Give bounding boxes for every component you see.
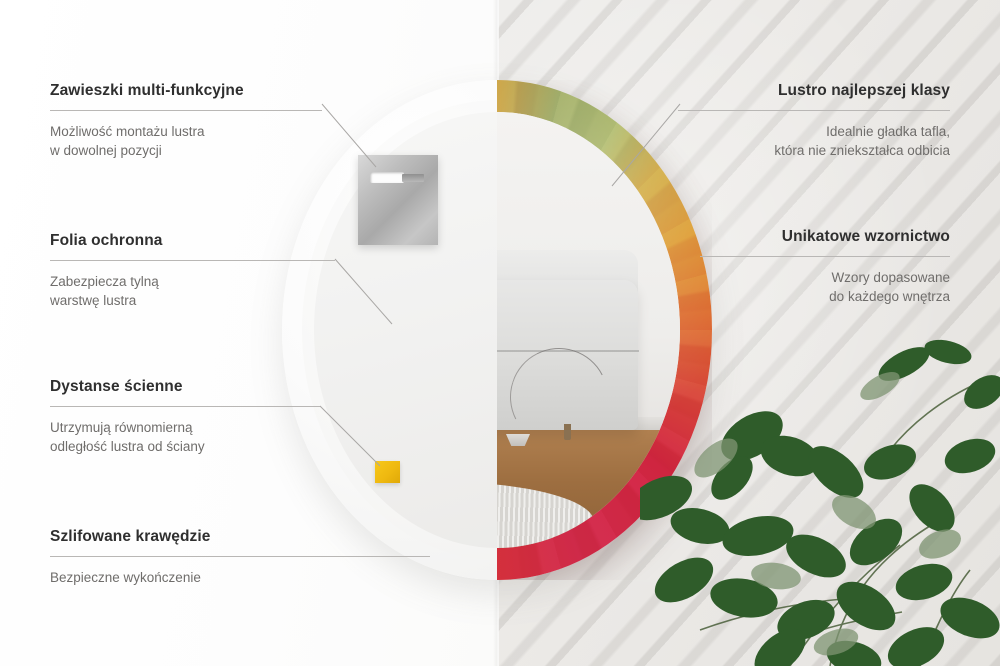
callout-body-line: odległość lustra od ściany (50, 439, 205, 454)
callout-dystanse: Dystanse ścienne Utrzymują równomierną o… (50, 378, 320, 457)
callout-title: Lustro najlepszej klasy (678, 82, 950, 101)
callout-body-line: Idealnie gładka tafla, (826, 124, 950, 139)
callout-body: Idealnie gładka tafla, która nie znieksz… (678, 122, 950, 161)
callout-title: Dystanse ścienne (50, 378, 320, 397)
wall-spacer (375, 461, 400, 483)
infographic-canvas: Zawieszki multi-funkcyjne Możliwość mont… (0, 0, 1000, 666)
callout-body-line: warstwę lustra (50, 293, 136, 308)
callout-rule (700, 256, 950, 257)
callout-wzornictwo: Unikatowe wzornictwo Wzory dopasowane do… (700, 228, 950, 307)
callout-body-line: do każdego wnętrza (829, 289, 950, 304)
callout-body: Możliwość montażu lustra w dowolnej pozy… (50, 122, 322, 161)
callout-title: Unikatowe wzornictwo (700, 228, 950, 247)
callout-body: Wzory dopasowane do każdego wnętrza (700, 268, 950, 307)
hanger-keyhole-slot (370, 172, 404, 183)
callout-body-line: w dowolnej pozycji (50, 143, 162, 158)
callout-title: Zawieszki multi-funkcyjne (50, 82, 322, 101)
callout-zawieszki: Zawieszki multi-funkcyjne Możliwość mont… (50, 82, 322, 161)
callout-body-line: Możliwość montażu lustra (50, 124, 205, 139)
callout-body-line: która nie zniekształca odbicia (774, 143, 950, 158)
callout-folia: Folia ochronna Zabezpiecza tylną warstwę… (50, 232, 335, 311)
callout-rule (50, 110, 322, 111)
callout-rule (678, 110, 950, 111)
round-mirror (282, 80, 712, 580)
mirror-reflection (497, 112, 680, 548)
callout-body: Bezpieczne wykończenie (50, 568, 430, 588)
callout-body-line: Utrzymują równomierną (50, 420, 193, 435)
callout-rule (50, 406, 320, 407)
callout-body-line: Wzory dopasowane (831, 270, 950, 285)
callout-body: Utrzymują równomierną odległość lustra o… (50, 418, 320, 457)
callout-body: Zabezpiecza tylną warstwę lustra (50, 272, 335, 311)
callout-lustro: Lustro najlepszej klasy Idealnie gładka … (678, 82, 950, 161)
callout-rule (50, 260, 335, 261)
callout-title: Folia ochronna (50, 232, 335, 251)
callout-szlifowane: Szlifowane krawędzie Bezpieczne wykończe… (50, 528, 430, 587)
hanger-plate (358, 155, 438, 245)
callout-body-line: Zabezpiecza tylną (50, 274, 159, 289)
reflected-room (497, 112, 680, 548)
hanger-bracket (402, 174, 424, 182)
callout-body-line: Bezpieczne wykończenie (50, 570, 201, 585)
callout-title: Szlifowane krawędzie (50, 528, 430, 547)
callout-rule (50, 556, 430, 557)
